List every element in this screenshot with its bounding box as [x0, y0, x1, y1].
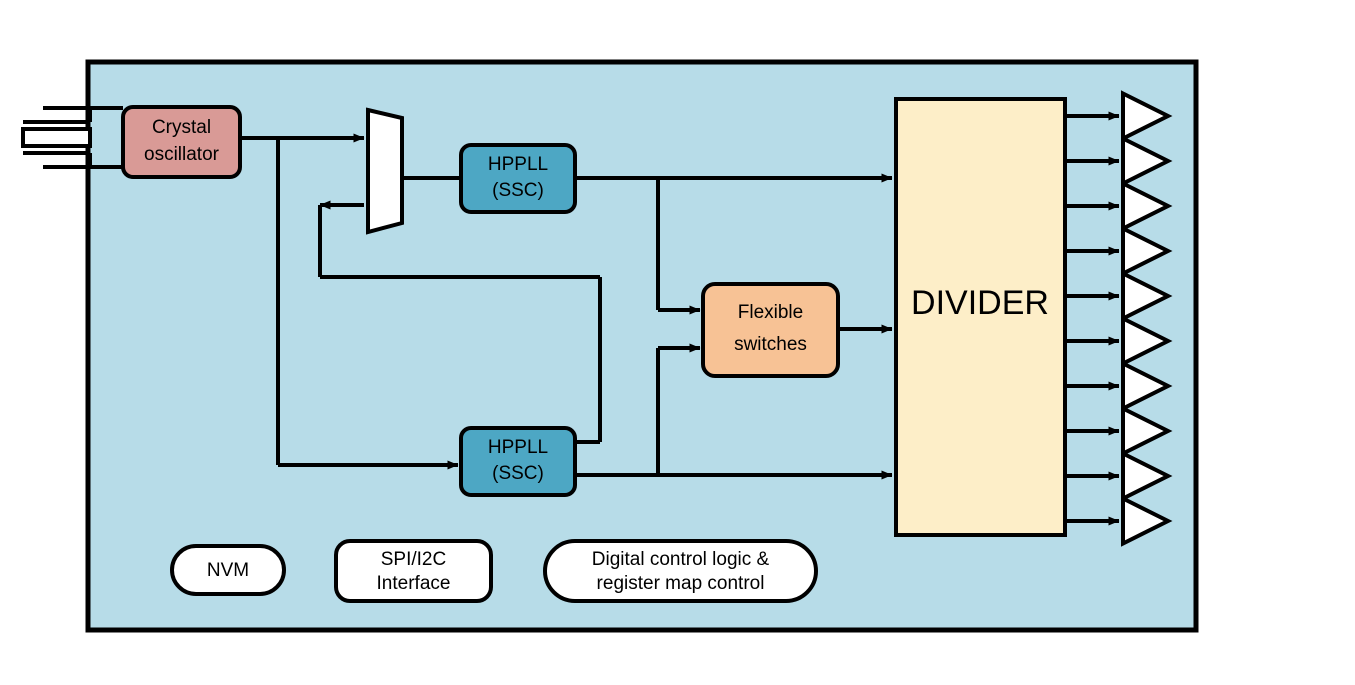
- diagram-canvas: Crystal oscillator HPPLL (SSC) HPPLL (SS…: [0, 0, 1355, 685]
- digital-control-logic-block[interactable]: Digital control logic & register map con…: [545, 541, 816, 601]
- hppll-top-label-line1: HPPLL: [488, 154, 548, 175]
- nvm-label: NVM: [207, 560, 249, 581]
- hppll-top-block[interactable]: HPPLL (SSC): [461, 145, 575, 212]
- hppll-bottom-label-line1: HPPLL: [488, 437, 548, 458]
- spi-i2c-interface-block[interactable]: SPI/I2C Interface: [336, 541, 491, 601]
- spi-i2c-label-line2: Interface: [377, 573, 451, 594]
- crystal-oscillator-block[interactable]: Crystal oscillator: [123, 107, 240, 177]
- flexible-switches-block[interactable]: Flexible switches: [703, 284, 838, 376]
- multiplexer-icon[interactable]: [368, 110, 402, 232]
- spi-i2c-label-line1: SPI/I2C: [381, 549, 446, 570]
- flexible-switches-label-line2: switches: [734, 334, 807, 355]
- hppll-bottom-label-line2: (SSC): [492, 463, 544, 484]
- digital-control-label-line2: register map control: [597, 573, 765, 594]
- block-diagram-svg: Crystal oscillator HPPLL (SSC) HPPLL (SS…: [0, 0, 1355, 685]
- divider-block[interactable]: DIVIDER: [896, 99, 1065, 535]
- hppll-bottom-block[interactable]: HPPLL (SSC): [461, 428, 575, 495]
- divider-label: DIVIDER: [911, 284, 1049, 322]
- digital-control-label-line1: Digital control logic &: [592, 549, 770, 570]
- crystal-oscillator-label-line2: oscillator: [144, 144, 220, 165]
- nvm-block[interactable]: NVM: [172, 546, 284, 594]
- crystal-oscillator-label-line1: Crystal: [152, 117, 211, 138]
- flexible-switches-label-line1: Flexible: [738, 302, 803, 323]
- hppll-top-label-line2: (SSC): [492, 180, 544, 201]
